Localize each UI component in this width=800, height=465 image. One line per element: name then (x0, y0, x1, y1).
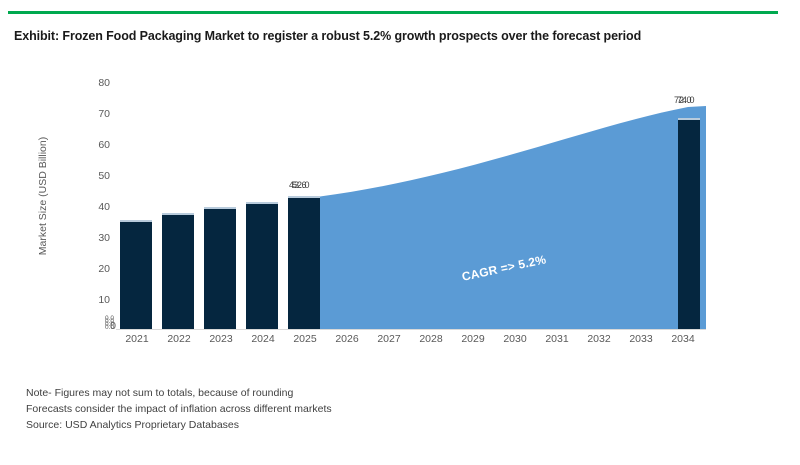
bar-cap-2024 (246, 202, 278, 204)
chart-canvas: Market Size (USD Billion) 80 70 60 50 40… (0, 70, 800, 360)
data-label-2034-b: 74.0 (677, 96, 695, 105)
plot-area: 43.6 52.0 72.0 74.0 CAGR => 5.2% (116, 70, 706, 330)
x-axis-ticks: 2021 2022 2023 2024 2025 2026 2027 2028 … (116, 334, 706, 354)
bar-2025[interactable] (288, 196, 320, 329)
bar-cap-2023 (204, 207, 236, 209)
y-tick-40: 40 (76, 202, 110, 213)
y-tick-80: 80 (76, 78, 110, 89)
bar-cap-2025 (288, 196, 320, 198)
x-tick-2026: 2026 (326, 334, 368, 345)
bar-2023[interactable] (204, 207, 236, 329)
y-tick-50: 50 (76, 171, 110, 182)
bar-2034[interactable] (678, 118, 700, 329)
x-tick-2028: 2028 (410, 334, 452, 345)
page-title: Exhibit: Frozen Food Packaging Market to… (14, 29, 784, 43)
footnote-source: Source: USD Analytics Proprietary Databa… (26, 417, 626, 433)
x-tick-2031: 2031 (536, 334, 578, 345)
bar-2021[interactable] (120, 220, 152, 329)
y-tick-10: 10 (76, 295, 110, 306)
bar-cap-2034 (678, 118, 700, 120)
bar-cap-2021 (120, 220, 152, 222)
x-tick-2021: 2021 (116, 334, 158, 345)
y-tick-30: 30 (76, 233, 110, 244)
x-tick-2034: 2034 (662, 334, 704, 345)
bar-2024[interactable] (246, 202, 278, 329)
x-axis-baseline (116, 329, 706, 330)
x-tick-2025: 2025 (284, 334, 326, 345)
bar-2022[interactable] (162, 213, 194, 329)
y-tick-20: 20 (76, 264, 110, 275)
top-accent-rule (8, 11, 778, 14)
footnote-forecasts: Forecasts consider the impact of inflati… (26, 401, 626, 417)
bar-cap-2022 (162, 213, 194, 215)
x-tick-2032: 2032 (578, 334, 620, 345)
x-tick-2033: 2033 (620, 334, 662, 345)
footnote-note: Note- Figures may not sum to totals, bec… (26, 385, 626, 401)
x-tick-2023: 2023 (200, 334, 242, 345)
x-tick-2024: 2024 (242, 334, 284, 345)
y-axis-ticks: 80 70 60 50 40 30 20 10 (76, 70, 110, 332)
y-tick-zero-cluster: 0.0 0.0 0.0 0.0 0 (78, 316, 114, 332)
data-label-2025-b: 52.0 (292, 181, 310, 190)
x-tick-2029: 2029 (452, 334, 494, 345)
y-tick-70: 70 (76, 109, 110, 120)
x-tick-2022: 2022 (158, 334, 200, 345)
x-tick-2027: 2027 (368, 334, 410, 345)
x-tick-2030: 2030 (494, 334, 536, 345)
y-axis-title: Market Size (USD Billion) (37, 111, 49, 281)
footnotes: Note- Figures may not sum to totals, bec… (26, 385, 626, 433)
y-tick-60: 60 (76, 140, 110, 151)
chart-page: Exhibit: Frozen Food Packaging Market to… (0, 0, 800, 465)
